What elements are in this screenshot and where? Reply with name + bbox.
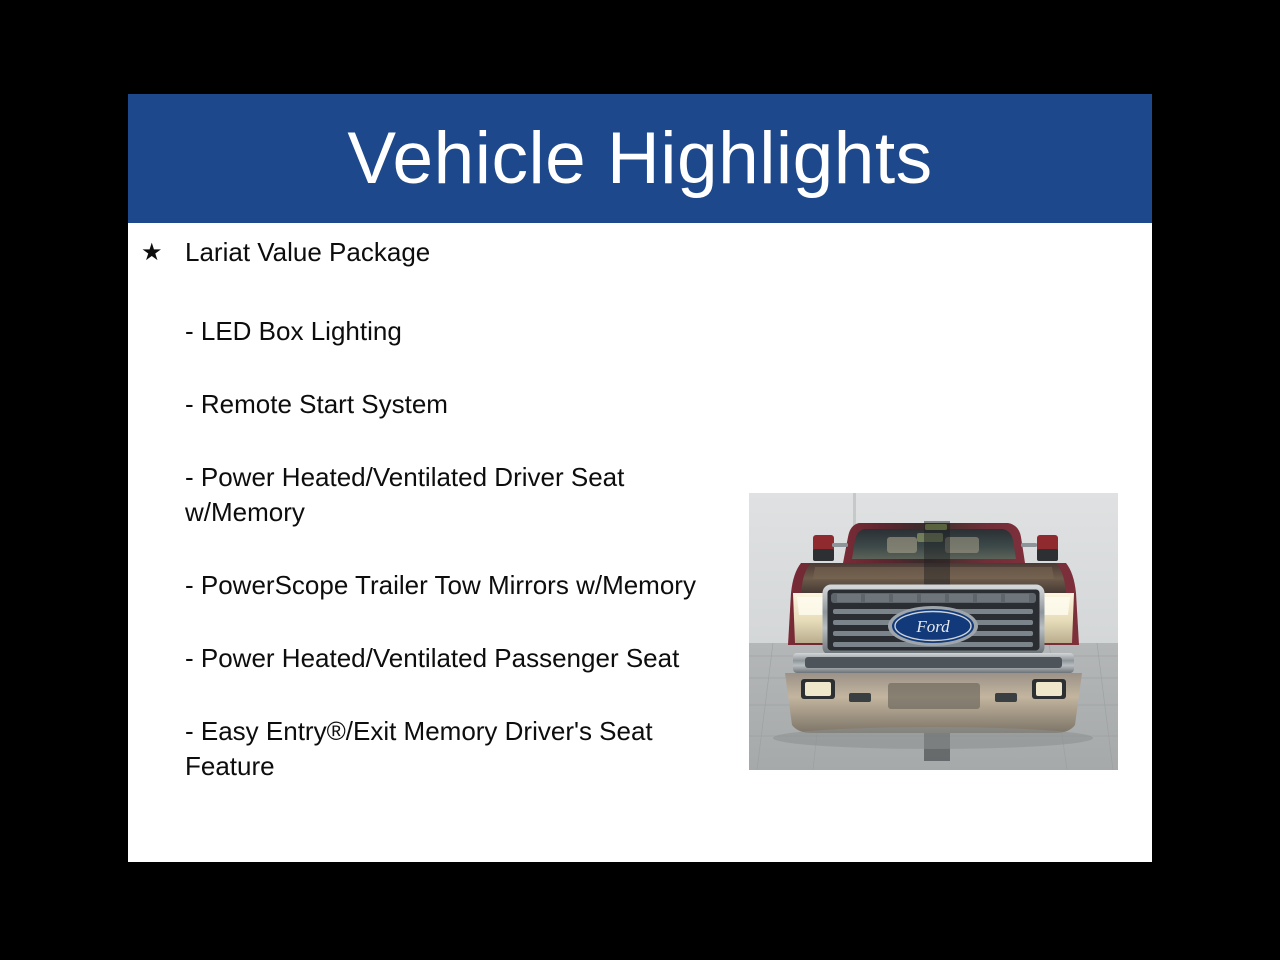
list-item-label: - Remote Start System	[185, 387, 705, 422]
vehicle-photo: Ford	[749, 493, 1118, 770]
list-item: - PowerScope Trailer Tow Mirrors w/Memor…	[141, 568, 711, 603]
svg-text:Ford: Ford	[915, 617, 950, 636]
list-item: - Easy Entry®/Exit Memory Driver's Seat …	[141, 714, 711, 784]
vehicle-photo-graphic: Ford	[749, 493, 1118, 770]
list-item-label: Lariat Value Package	[185, 235, 711, 270]
list-item-label: - PowerScope Trailer Tow Mirrors w/Memor…	[185, 568, 705, 603]
page-title: Vehicle Highlights	[347, 122, 932, 195]
slide-body: ★ Lariat Value Package - LED Box Lightin…	[128, 223, 1152, 862]
slide-title-bar: Vehicle Highlights	[128, 94, 1152, 223]
list-item: - Remote Start System	[141, 387, 711, 422]
slide-canvas: Vehicle Highlights ★ Lariat Value Packag…	[0, 0, 1280, 960]
list-item: - Power Heated/Ventilated Driver Seat w/…	[141, 460, 711, 530]
list-item-label: - Easy Entry®/Exit Memory Driver's Seat …	[185, 714, 705, 784]
list-item-label: - Power Heated/Ventilated Driver Seat w/…	[185, 460, 705, 530]
ford-badge: Ford	[888, 606, 978, 646]
list-item: - LED Box Lighting	[141, 314, 711, 349]
star-bullet-icon: ★	[141, 235, 173, 270]
presentation-slide: Vehicle Highlights ★ Lariat Value Packag…	[128, 94, 1152, 862]
list-item: - Power Heated/Ventilated Passenger Seat	[141, 641, 711, 676]
list-item: ★ Lariat Value Package	[141, 235, 711, 270]
list-item-label: - Power Heated/Ventilated Passenger Seat	[185, 641, 705, 676]
list-item-label: - LED Box Lighting	[185, 314, 705, 349]
vehicle-highlights-list: ★ Lariat Value Package - LED Box Lightin…	[141, 235, 711, 784]
